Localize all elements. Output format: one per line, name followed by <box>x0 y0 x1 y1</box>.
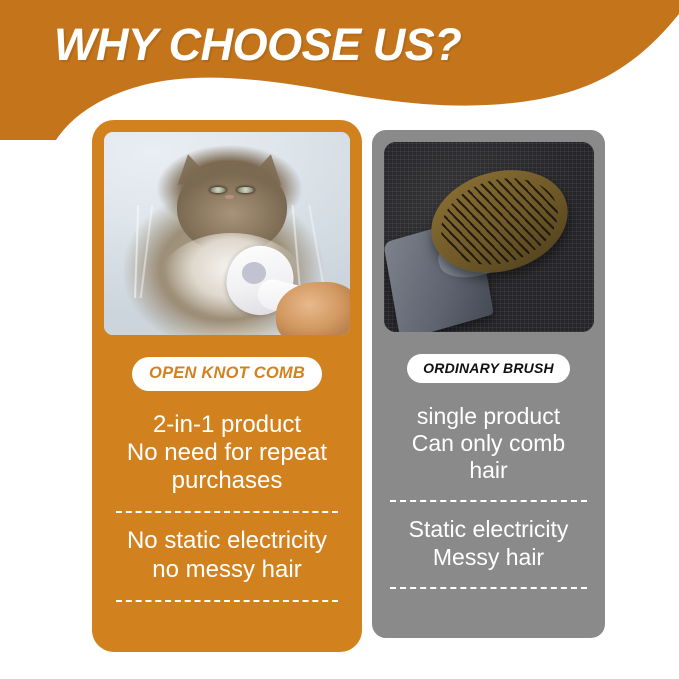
product-badge-label: OPEN KNOT COMB <box>132 357 322 391</box>
competitor-feature-divider-bottom <box>390 587 587 589</box>
cat-eye-left <box>210 187 227 193</box>
feature-divider-bottom <box>116 600 338 602</box>
product-photo-cat-grooming <box>104 132 350 335</box>
competitor-feature-divider-top <box>390 500 587 502</box>
product-feature-2: No static electricity no messy hair <box>102 523 352 590</box>
product-card-open-knot-comb: OPEN KNOT COMB 2-in-1 product No need fo… <box>92 120 362 652</box>
competitor-feature-list: single product Can only comb hair Static… <box>372 399 605 599</box>
why-choose-us-infographic: WHY CHOOSE US? <box>0 0 679 679</box>
competitor-badge-label: ORDINARY BRUSH <box>407 354 570 383</box>
comparison-cards: OPEN KNOT COMB 2-in-1 product No need fo… <box>0 0 679 679</box>
competitor-feature-1: single product Can only comb hair <box>382 399 595 490</box>
competitor-photo-slicker-brush <box>384 142 594 332</box>
cat-eye-right <box>237 187 254 193</box>
competitor-feature-2: Static electricity Messy hair <box>382 512 595 576</box>
competitor-card-ordinary-brush: ORDINARY BRUSH single product Can only c… <box>372 130 605 638</box>
product-feature-1: 2-in-1 product No need for repeat purcha… <box>102 407 352 502</box>
product-feature-list: 2-in-1 product No need for repeat purcha… <box>92 407 362 613</box>
feature-divider-top <box>116 511 338 513</box>
cat-nose <box>225 195 234 199</box>
